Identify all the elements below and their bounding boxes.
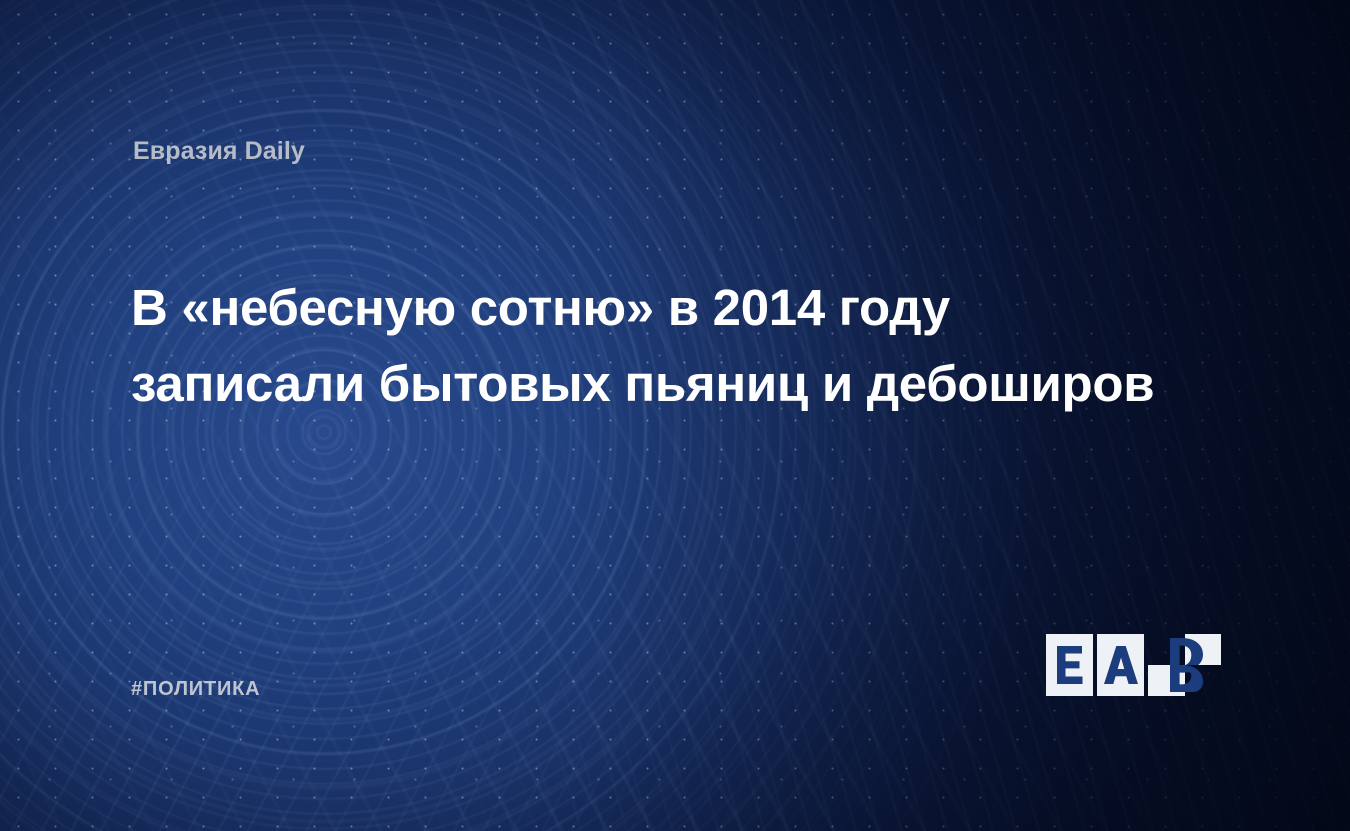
headline-line-1: В «небесную сотню» в 2014 году bbox=[131, 270, 1241, 346]
category-tag[interactable]: #ПОЛИТИКА bbox=[131, 678, 260, 701]
logo-letter-e-icon bbox=[1055, 645, 1085, 685]
logo-letter-e-tile bbox=[1046, 634, 1093, 696]
headline: В «небесную сотню» в 2014 году записали … bbox=[131, 270, 1241, 422]
news-card: Евразия Daily В «небесную сотню» в 2014 … bbox=[0, 0, 1350, 831]
logo-letter-a-tile bbox=[1097, 634, 1144, 696]
brand-name: Евразия Daily bbox=[133, 137, 305, 166]
logo-letter-a-icon bbox=[1103, 645, 1139, 685]
logo-letter-d-tile bbox=[1148, 634, 1221, 696]
headline-line-2: записали бытовых пьяниц и дебоширов bbox=[131, 346, 1241, 422]
eadaily-logo[interactable] bbox=[1046, 634, 1221, 696]
logo-letter-d-icon bbox=[1148, 634, 1221, 696]
